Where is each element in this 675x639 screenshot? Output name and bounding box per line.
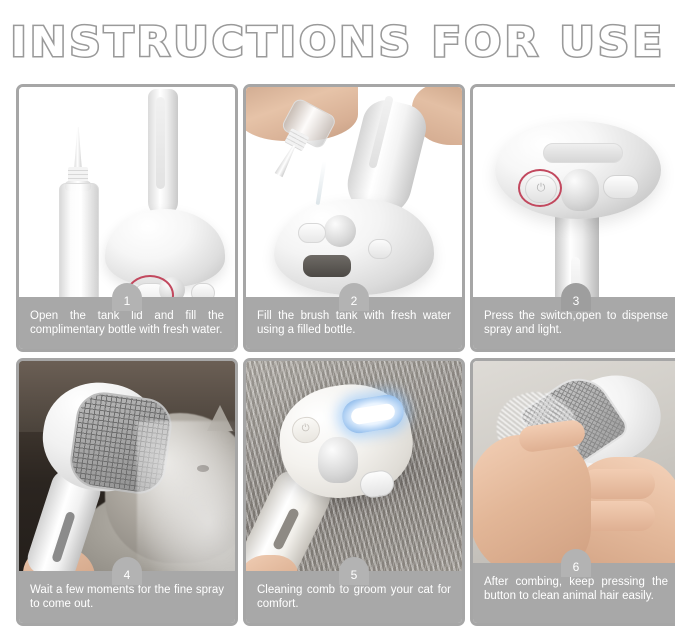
steps-grid: 1 Open the tank lid and fill the complim…	[0, 84, 675, 626]
scene-bottle-and-device	[19, 87, 235, 297]
step-badge-3: 3	[561, 283, 591, 311]
step-caption-text-3: Press the switch,open to dispense spray …	[484, 310, 668, 336]
step-image-6	[473, 361, 675, 563]
step-image-3: ⏻	[473, 87, 675, 297]
step-caption-text-2: Fill the brush tank with fresh water usi…	[257, 310, 451, 336]
step-badge-2: 2	[339, 283, 369, 311]
scene-spray-on-cat	[19, 361, 235, 571]
step-caption-text-1: Open the tank lid and fill the complimen…	[30, 310, 224, 336]
device-head	[105, 209, 225, 287]
step-card-2: 2 Fill the brush tank with fresh water u…	[243, 84, 465, 352]
bottle-tip	[275, 143, 299, 177]
power-button	[368, 239, 392, 259]
scene-filling-tank	[246, 87, 462, 297]
highlight-ring-power-button	[518, 169, 562, 207]
step-caption-text-5: Cleaning comb to groom your cat for comf…	[257, 584, 451, 610]
step-caption-1: 1 Open the tank lid and fill the complim…	[19, 297, 235, 349]
step-badge-1: 1	[112, 283, 142, 311]
step-badge-6: 6	[561, 549, 591, 577]
step-caption-4: 4 Wait a few moments for the fine spray …	[19, 571, 235, 623]
handle-slot	[156, 97, 165, 189]
step-badge-4: 4	[112, 557, 142, 585]
instructions-page: INSTRUCTIONS FOR USE	[0, 0, 675, 639]
tank-window	[303, 255, 351, 277]
power-button	[191, 283, 215, 297]
device-head	[274, 199, 434, 295]
nozzle-knob	[318, 437, 358, 483]
finger-index	[581, 469, 655, 499]
step-caption-5: 5 Cleaning comb to groom your cat for co…	[246, 571, 462, 623]
step-image-4	[19, 361, 235, 571]
step-caption-3: 3 Press the switch,open to dispense spra…	[473, 297, 675, 349]
page-title: INSTRUCTIONS FOR USE	[10, 18, 665, 66]
step-caption-text-4: Wait a few moments for the fine spray to…	[30, 584, 224, 610]
scene-cleaning-hair	[473, 361, 675, 563]
bottle-body	[59, 183, 99, 297]
hand-pulling-hair	[473, 435, 591, 563]
page-title-bar: INSTRUCTIONS FOR USE	[0, 0, 675, 84]
tank-lid-open	[298, 223, 326, 243]
step-caption-text-6: After combing, keep pressing the button …	[484, 576, 668, 602]
step-card-4: 4 Wait a few moments for the fine spray …	[16, 358, 238, 626]
scene-power-switch-closeup: ⏻	[473, 87, 675, 297]
nozzle-knob	[324, 215, 356, 247]
step-badge-5: 5	[339, 557, 369, 585]
nozzle-knob	[561, 169, 599, 211]
tank-lid	[603, 175, 639, 199]
step-image-1	[19, 87, 235, 297]
step-image-2	[246, 87, 462, 297]
water-bottle	[57, 125, 99, 297]
tank-window	[543, 143, 623, 163]
bottle-tip	[74, 127, 82, 171]
step-card-1: 1 Open the tank lid and fill the complim…	[16, 84, 238, 352]
scene-brush-on-fur: ⏻	[246, 361, 462, 571]
step-card-3: ⏻ 3 Press the switch,open to dispense sp…	[470, 84, 675, 352]
step-image-5: ⏻	[246, 361, 462, 571]
step-caption-6: 6 After combing, keep pressing the butto…	[473, 563, 675, 623]
water-stream	[316, 161, 327, 205]
step-card-5: ⏻ 5 Cleaning comb to groom your cat for …	[243, 358, 465, 626]
step-caption-2: 2 Fill the brush tank with fresh water u…	[246, 297, 462, 349]
spray-mist	[137, 421, 235, 571]
step-card-6: 6 After combing, keep pressing the butto…	[470, 358, 675, 626]
